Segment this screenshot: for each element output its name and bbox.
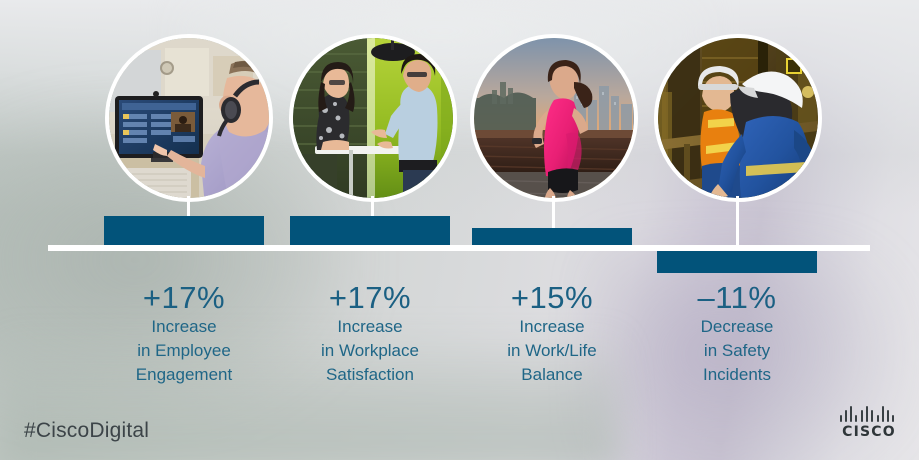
stat-line1-4: Decrease [647, 315, 827, 339]
stat-block-1: +17% Increase in Employee Engagement [94, 281, 274, 387]
photo-employee-headset-touchscreen [109, 38, 269, 198]
stat-block-4: –11% Decrease in Safety Incidents [647, 281, 827, 387]
cisco-wordmark: CISCO [838, 424, 900, 440]
stat-line3-3: Balance [462, 363, 642, 387]
bar-4 [657, 251, 817, 273]
stat-circle-3 [470, 34, 638, 202]
stat-circle-2 [289, 34, 457, 202]
photo-two-colleagues-green-booth [293, 38, 453, 198]
stat-circle-4 [654, 34, 822, 202]
stat-line3-2: Satisfaction [280, 363, 460, 387]
stat-line1-2: Increase [280, 315, 460, 339]
connector-stem-2 [371, 196, 374, 218]
cisco-logo-bars [840, 404, 898, 422]
stat-value-1: +17% [94, 281, 274, 315]
bar-3 [472, 228, 632, 245]
stat-value-4: –11% [647, 281, 827, 315]
stat-line3-1: Engagement [94, 363, 274, 387]
stat-line2-2: in Workplace [280, 339, 460, 363]
photo-industrial-workers-hardhats [658, 38, 818, 198]
connector-stem-3 [552, 196, 555, 230]
stat-circle-1 [105, 34, 273, 202]
cisco-bridge-logo: CISCO [838, 404, 900, 446]
connector-stem-1 [187, 196, 190, 218]
stat-line3-4: Incidents [647, 363, 827, 387]
stat-line1-3: Increase [462, 315, 642, 339]
hashtag-label: #CiscoDigital [24, 419, 149, 443]
stat-line2-4: in Safety [647, 339, 827, 363]
bar-2 [290, 216, 450, 245]
stat-value-3: +15% [462, 281, 642, 315]
stat-value-2: +17% [280, 281, 460, 315]
stat-block-2: +17% Increase in Workplace Satisfaction [280, 281, 460, 387]
infographic-canvas: +17% Increase in Employee Engagement +17… [0, 0, 919, 460]
chart-baseline [48, 245, 870, 251]
stat-line1-1: Increase [94, 315, 274, 339]
stat-line2-1: in Employee [94, 339, 274, 363]
connector-stem-4 [736, 196, 739, 245]
stat-line2-3: in Work/Life [462, 339, 642, 363]
stat-block-3: +15% Increase in Work/Life Balance [462, 281, 642, 387]
photo-woman-jogging-city-sunset [474, 38, 634, 198]
bar-1 [104, 216, 264, 245]
